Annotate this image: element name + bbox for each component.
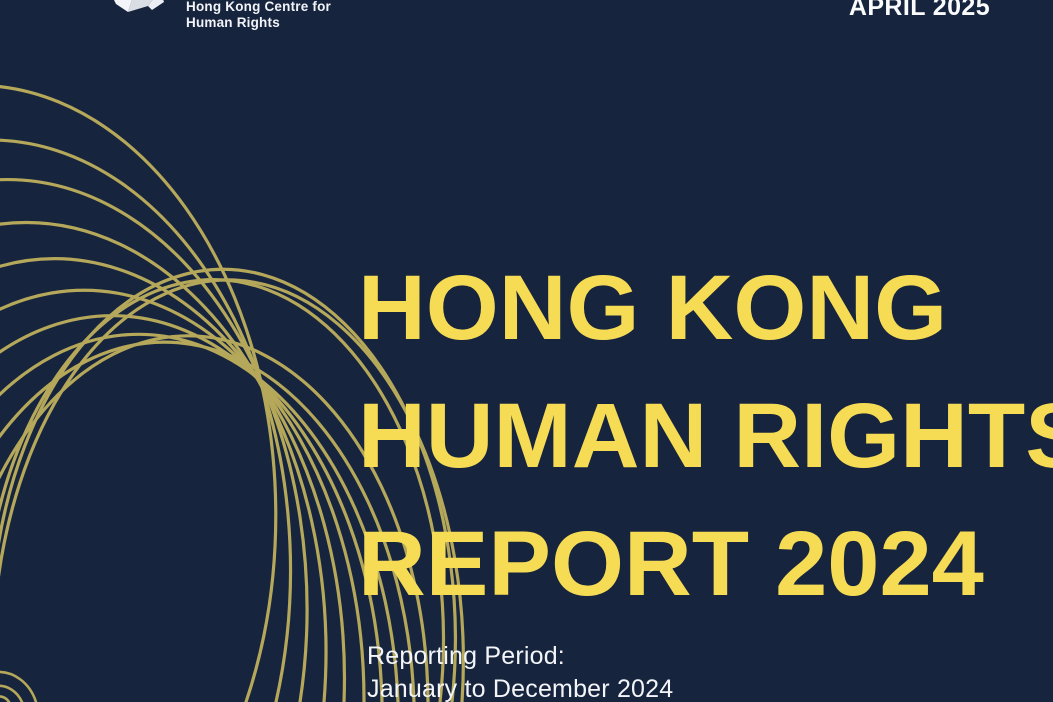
paper-plane-logo-icon [78, 0, 174, 22]
org-name-english-line1: Hong Kong Centre for [186, 0, 331, 15]
report-cover-page: 香港人權資訊中心 Hong Kong Centre for Human Righ… [0, 0, 1053, 702]
title-line-3: REPORT 2024 [358, 500, 1041, 628]
reporting-period-block: Reporting Period: January to December 20… [367, 640, 673, 702]
issue-date: APRIL 2025 [849, 0, 990, 22]
report-title: HONG KONG HUMAN RIGHTS REPORT 2024 [358, 244, 1028, 628]
organization-branding: 香港人權資訊中心 Hong Kong Centre for Human Righ… [78, 0, 331, 31]
organization-name-block: 香港人權資訊中心 Hong Kong Centre for Human Righ… [186, 0, 331, 31]
title-line-2: HUMAN RIGHTS [358, 372, 1041, 500]
reporting-period-value: January to December 2024 [367, 673, 673, 702]
cover-header: 香港人權資訊中心 Hong Kong Centre for Human Righ… [0, 0, 1053, 46]
org-name-english-line2: Human Rights [186, 15, 331, 31]
reporting-period-label: Reporting Period: [367, 640, 673, 673]
title-line-1: HONG KONG [358, 244, 1041, 372]
